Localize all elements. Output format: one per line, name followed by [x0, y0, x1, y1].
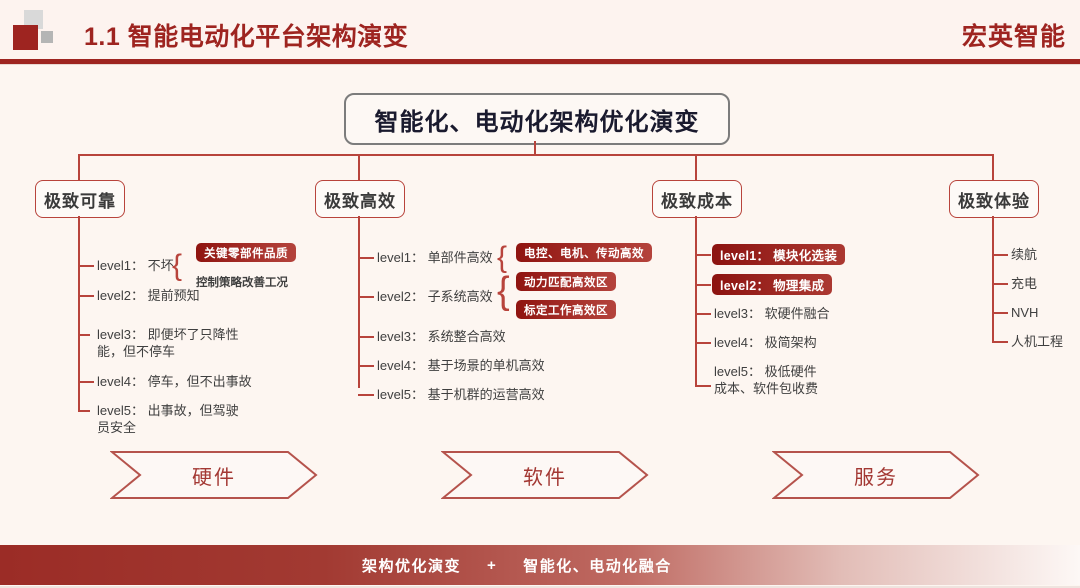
tick-2-2 [358, 296, 374, 298]
tick-4-2 [992, 283, 1008, 285]
tick-3-2 [695, 284, 711, 286]
level-item-4-3: NVH [1011, 304, 1038, 321]
annotation-badge-2-2: 动力匹配高效区 [516, 272, 616, 291]
tick-3-5 [695, 385, 711, 387]
tick-2-4 [358, 365, 374, 367]
level-item-4-4: 人机工程 [1011, 333, 1063, 350]
tick-2-5 [358, 394, 374, 396]
level-item-2-2: level2： 子系统高效 [377, 288, 493, 305]
trunk-line-4 [992, 216, 994, 343]
branch-node-experience[interactable]: 极致体验 [949, 180, 1039, 218]
annotation-badge-2-3: 标定工作高效区 [516, 300, 616, 319]
level-item-3-3: level3： 软硬件融合 [714, 305, 830, 322]
slide: 1.1 智能电动化平台架构演变 宏英智能 智能化、电动化架构优化演变 极致可靠 … [0, 0, 1080, 588]
level-item-2-3: level3： 系统整合高效 [377, 328, 506, 345]
connector-root-stem [534, 141, 536, 155]
brace-icon-1: { [172, 251, 182, 281]
slide-header: 1.1 智能电动化平台架构演变 宏英智能 [0, 0, 1080, 62]
level-item-2-1: level1： 单部件高效 [377, 249, 493, 266]
header-decor-square-gray [41, 31, 53, 43]
branch-label: 极致可靠 [44, 187, 116, 212]
level-item-1-4: level4： 停车，但不出事故 [97, 373, 252, 390]
level-item-4-1: 续航 [1011, 246, 1037, 263]
level-item-1-1: level1： 不坏 [97, 257, 174, 274]
level-item-3-2: level2： 物理集成 [712, 274, 832, 295]
tick-2-1 [358, 257, 374, 259]
tick-3-3 [695, 313, 711, 315]
tick-1-2 [78, 295, 94, 297]
chevron-software[interactable]: 软件 [441, 450, 649, 500]
footer-text-group: 架构优化演变 + 智能化、电动化融合 [0, 545, 1080, 585]
tick-3-1 [695, 254, 711, 256]
tick-2-3 [358, 336, 374, 338]
level-item-1-5: level5： 出事故，但驾驶 员安全 [97, 402, 239, 436]
tick-4-1 [992, 254, 1008, 256]
chevron-label: 服务 [854, 461, 898, 490]
chevron-hardware[interactable]: 硬件 [110, 450, 318, 500]
header-decor-square-red [13, 25, 38, 50]
tick-1-4 [78, 381, 94, 383]
tick-1-3 [78, 334, 90, 336]
level-item-3-1: level1： 模块化选装 [712, 244, 845, 265]
connector-drop-4 [992, 154, 994, 181]
page-title: 1.1 智能电动化平台架构演变 [84, 17, 408, 53]
branch-node-efficiency[interactable]: 极致高效 [315, 180, 405, 218]
tick-1-1 [78, 265, 94, 267]
branch-label: 极致体验 [958, 187, 1030, 212]
branch-node-cost[interactable]: 极致成本 [652, 180, 742, 218]
level-item-3-5: level5： 极低硬件 成本、软件包收费 [714, 363, 818, 397]
chevron-service[interactable]: 服务 [772, 450, 980, 500]
tick-1-5 [78, 410, 90, 412]
branch-label: 极致成本 [661, 187, 733, 212]
connector-drop-1 [78, 154, 80, 181]
connector-drop-2 [358, 154, 360, 181]
level-item-1-3: level3： 即便坏了只降性 能，但不停车 [97, 326, 239, 360]
annotation-badge-1-1: 关键零部件品质 [196, 243, 296, 262]
brace-icon-2b: { [497, 272, 510, 310]
level-item-2-4: level4： 基于场景的单机高效 [377, 357, 545, 374]
branch-label: 极致高效 [324, 187, 396, 212]
header-divider-thin [0, 64, 1080, 65]
level-item-3-4: level4： 极简架构 [714, 334, 817, 351]
level-item-4-2: 充电 [1011, 275, 1037, 292]
chevron-label: 硬件 [192, 461, 236, 490]
annotation-text-1-2: 控制策略改善工况 [196, 274, 288, 290]
connector-drop-3 [695, 154, 697, 181]
trunk-line-2 [358, 216, 360, 388]
level-item-1-2: level2： 提前预知 [97, 287, 200, 304]
footer-left-text: 架构优化演变 [362, 555, 461, 576]
branch-node-reliability[interactable]: 极致可靠 [35, 180, 125, 218]
trunk-line-3 [695, 216, 697, 387]
tick-4-3 [992, 312, 1008, 314]
footer-plus-sign: + [487, 557, 497, 574]
brace-icon-2a: { [497, 243, 507, 273]
chevron-label: 软件 [523, 461, 567, 490]
tick-3-4 [695, 342, 711, 344]
footer-right-text: 智能化、电动化融合 [523, 555, 672, 576]
tick-4-4 [992, 341, 1008, 343]
root-node: 智能化、电动化架构优化演变 [344, 93, 730, 145]
connector-horizontal-bar [78, 154, 993, 156]
root-node-label: 智能化、电动化架构优化演变 [375, 102, 700, 137]
company-logo: 宏英智能 [962, 17, 1066, 53]
annotation-badge-2-1: 电控、电机、传动高效 [516, 243, 652, 262]
level-item-2-5: level5： 基于机群的运营高效 [377, 386, 545, 403]
